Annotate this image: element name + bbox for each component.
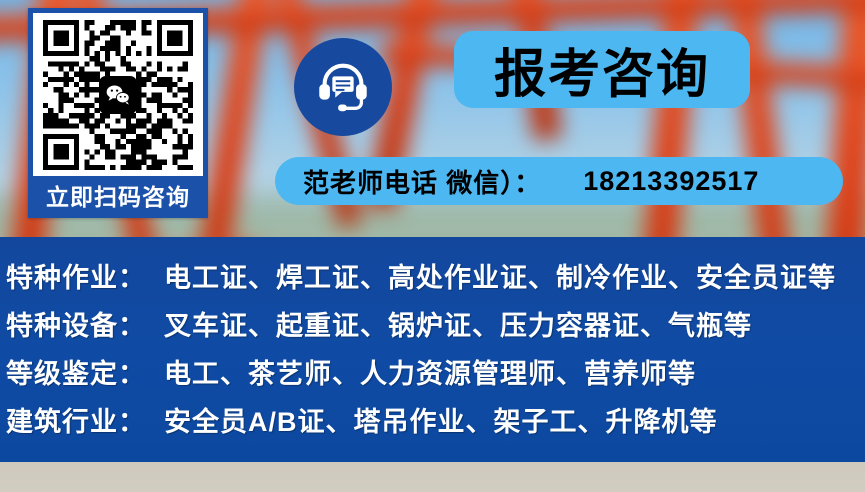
service-row: 等级鉴定： 电工、茶艺师、人力资源管理师、营养师等 <box>0 347 865 395</box>
headset-support-icon <box>294 38 392 136</box>
service-category: 等级鉴定： <box>6 352 146 391</box>
service-category: 特种作业： <box>6 256 146 295</box>
contact-phone-number[interactable]: 18213392517 <box>583 166 759 197</box>
contact-pill[interactable]: 范老师电话 微信）： 18213392517 <box>275 157 843 205</box>
service-items: 电工证、焊工证、高处作业证、制冷作业、安全员证等 <box>164 256 836 295</box>
service-row: 特种设备： 叉车证、起重证、锅炉证、压力容器证、气瓶等 <box>0 299 865 347</box>
qr-code-card[interactable]: 立即扫码咨询 <box>28 8 208 218</box>
service-row: 建筑行业： 安全员A/B证、塔吊作业、架子工、升降机等 <box>0 395 865 443</box>
promo-poster: 立即扫码咨询 报考咨询 范老师电话 微信）： 18213392517 特种作业：… <box>0 0 865 492</box>
qr-card-caption: 立即扫码咨询 <box>33 176 203 213</box>
contact-label: 范老师电话 微信）： <box>303 163 541 200</box>
title-pill: 报考咨询 <box>454 31 750 108</box>
qr-code-area <box>33 13 203 176</box>
service-category: 建筑行业： <box>6 400 146 439</box>
wechat-icon <box>99 76 137 114</box>
service-items: 叉车证、起重证、锅炉证、压力容器证、气瓶等 <box>164 304 752 343</box>
service-row: 特种作业： 电工证、焊工证、高处作业证、制冷作业、安全员证等 <box>0 251 865 299</box>
service-category: 特种设备： <box>6 304 146 343</box>
qr-code-image <box>43 20 193 170</box>
service-items: 电工、茶艺师、人力资源管理师、营养师等 <box>164 352 696 391</box>
service-items: 安全员A/B证、塔吊作业、架子工、升降机等 <box>164 400 718 439</box>
service-list-panel: 特种作业： 电工证、焊工证、高处作业证、制冷作业、安全员证等 特种设备： 叉车证… <box>0 237 865 462</box>
